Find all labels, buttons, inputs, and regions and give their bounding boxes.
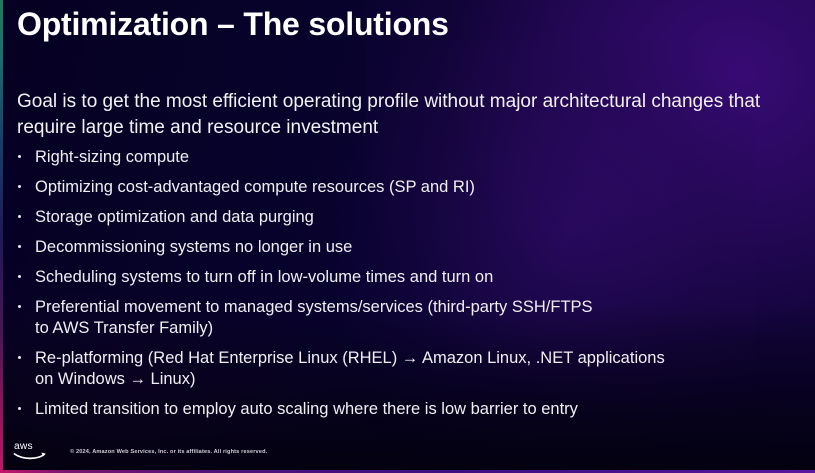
slide-intro-paragraph: Goal is to get the most efficient operat… [17, 89, 785, 141]
slide-footer: aws © 2024, Amazon Web Services, Inc. or… [0, 431, 815, 473]
bullet-dot-icon [18, 155, 21, 158]
bullet-dot-icon [18, 407, 21, 410]
presentation-slide: Optimization – The solutions Goal is to … [0, 0, 815, 473]
list-item: Re-platforming (Red Hat Enterprise Linux… [17, 348, 797, 390]
list-item: Storage optimization and data purging [17, 207, 797, 228]
bullet-text: Preferential movement to managed systems… [35, 298, 593, 316]
bullet-dot-icon [18, 305, 21, 308]
bullet-text: Scheduling systems to turn off in low-vo… [35, 268, 493, 286]
slide-title: Optimization – The solutions [17, 6, 449, 43]
list-item: Decommissioning systems no longer in use [17, 237, 797, 258]
list-item: Preferential movement to managed systems… [17, 297, 797, 339]
list-item: Scheduling systems to turn off in low-vo… [17, 267, 797, 288]
slide-content: Optimization – The solutions Goal is to … [0, 0, 815, 473]
bullet-text-continuation: to AWS Transfer Family) [35, 318, 797, 339]
bullet-dot-icon [18, 215, 21, 218]
bullet-text: Limited transition to employ auto scalin… [35, 400, 578, 418]
list-item: Right-sizing compute [17, 147, 797, 168]
copyright-text: © 2024, Amazon Web Services, Inc. or its… [70, 449, 267, 455]
bullet-text: Decommissioning systems no longer in use [35, 238, 352, 256]
svg-text:aws: aws [14, 441, 33, 452]
aws-logo-icon: aws [12, 439, 56, 461]
bullet-dot-icon [18, 245, 21, 248]
bullet-text-continuation: on Windows → Linux) [35, 369, 797, 390]
list-item: Optimizing cost-advantaged compute resou… [17, 177, 797, 198]
bullet-dot-icon [18, 275, 21, 278]
bullet-text: Storage optimization and data purging [35, 208, 314, 226]
bullet-dot-icon [18, 185, 21, 188]
bullet-text: Optimizing cost-advantaged compute resou… [35, 178, 475, 196]
bullet-dot-icon [18, 356, 21, 359]
list-item: Limited transition to employ auto scalin… [17, 399, 797, 420]
bullet-text: Right-sizing compute [35, 148, 189, 166]
bullet-text: Re-platforming (Red Hat Enterprise Linux… [35, 349, 665, 367]
bullet-list: Right-sizing compute Optimizing cost-adv… [17, 147, 797, 429]
